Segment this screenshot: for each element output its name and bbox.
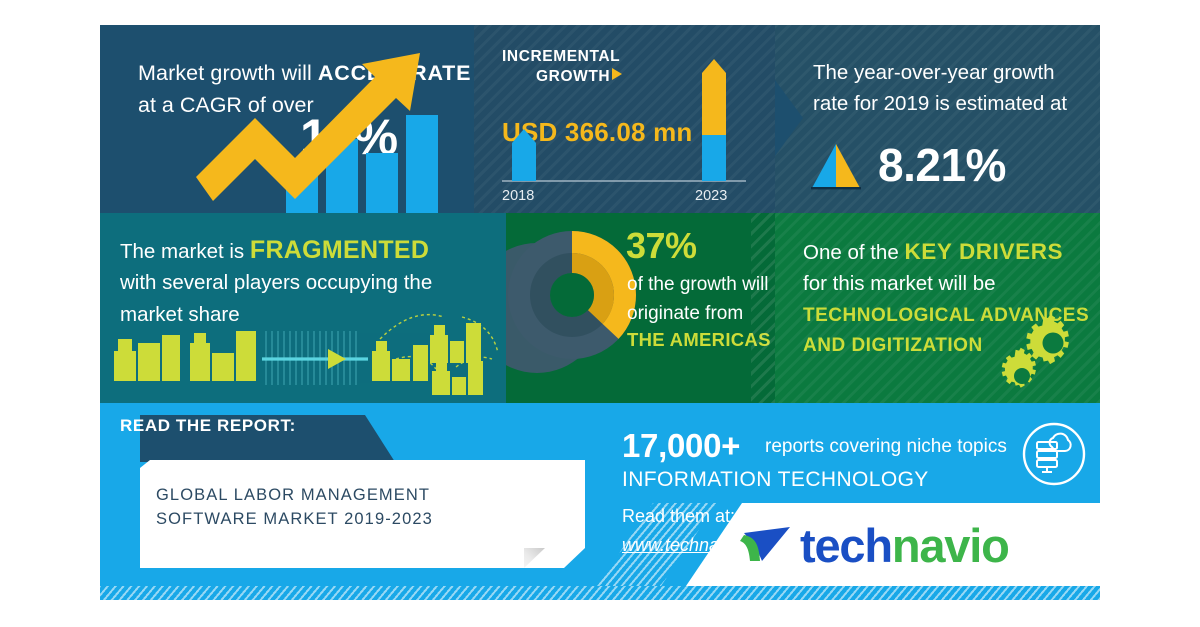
region-line1: of the growth will <box>627 274 769 295</box>
drivers-line2: for this market will be <box>803 272 996 296</box>
region-name: THE AMERICAS <box>627 329 771 351</box>
drivers-bold: KEY DRIVERS <box>904 239 1063 264</box>
read-the-report-label: READ THE REPORT: <box>120 416 296 436</box>
stripe-edge-decoration <box>751 213 775 403</box>
yoy-value: 8.21% <box>878 138 1006 192</box>
row-top-stats: Market growth will ACCELERATE at a CAGR … <box>100 25 1100 213</box>
report-title-line2: SOFTWARE MARKET 2019-2023 <box>156 510 433 528</box>
drivers-line4: AND DIGITIZATION <box>803 335 983 357</box>
reports-category: INFORMATION TECHNOLOGY <box>622 468 929 492</box>
region-donut-chart <box>508 231 636 359</box>
yoy-text: The year-over-year growth rate for 2019 … <box>813 57 1067 119</box>
report-title: GLOBAL LABOR MANAGEMENT SOFTWARE MARKET … <box>156 483 556 531</box>
incremental-axis-start-year: 2018 <box>502 188 534 204</box>
region-share-value: 37% <box>626 225 697 267</box>
footer-bar: READ THE REPORT: GLOBAL LABOR MANAGEMENT… <box>100 403 1100 600</box>
panel-fragmented: The market is FRAGMENTED with several pl… <box>100 213 506 403</box>
gears-icon <box>1000 313 1092 397</box>
reports-count: 17,000+ <box>622 427 740 465</box>
drivers-plain: One of the <box>803 241 904 264</box>
yoy-line2: rate for 2019 is estimated at <box>813 92 1067 115</box>
city-cluster-icon <box>114 331 256 381</box>
reports-subtitle: reports covering niche topics <box>765 436 1007 458</box>
growth-arrow-icon <box>100 25 474 213</box>
logo-text-tech: tech <box>800 522 892 569</box>
incremental-axis-end-year: 2023 <box>695 188 727 204</box>
region-text: of the growth will originate from <box>627 270 769 328</box>
cloud-server-icon <box>1021 421 1087 487</box>
panel-incremental-growth: INCREMENTAL GROWTH USD 366.08 mn 2018 20… <box>474 25 775 213</box>
logo-text-navio: navio <box>892 522 1009 569</box>
report-title-line1: GLOBAL LABOR MANAGEMENT <box>156 486 430 504</box>
technavio-logo[interactable]: technavio <box>738 521 1009 569</box>
drivers-headline: One of the KEY DRIVERS <box>803 239 1063 265</box>
row-middle-stats: The market is FRAGMENTED with several pl… <box>100 213 1100 403</box>
panel-key-drivers: One of the KEY DRIVERS for this market w… <box>775 213 1100 403</box>
triangle-growth-icon <box>808 142 864 192</box>
hatch-bottom-decoration <box>100 586 1100 600</box>
yoy-line1: The year-over-year growth <box>813 61 1055 84</box>
panel-cagr: Market growth will ACCELERATE at a CAGR … <box>100 25 474 213</box>
region-line2: originate from <box>627 303 743 324</box>
chevron-divider-icon <box>775 80 803 156</box>
panel-yoy-growth: The year-over-year growth rate for 2019 … <box>775 25 1100 213</box>
infographic-canvas: Market growth will ACCELERATE at a CAGR … <box>0 0 1200 627</box>
paper-plane-icon <box>738 521 796 569</box>
panel-region-share: 37% of the growth will originate from TH… <box>506 213 775 403</box>
incremental-growth-bar-chart <box>474 25 775 213</box>
fragmented-illustration <box>100 213 506 403</box>
